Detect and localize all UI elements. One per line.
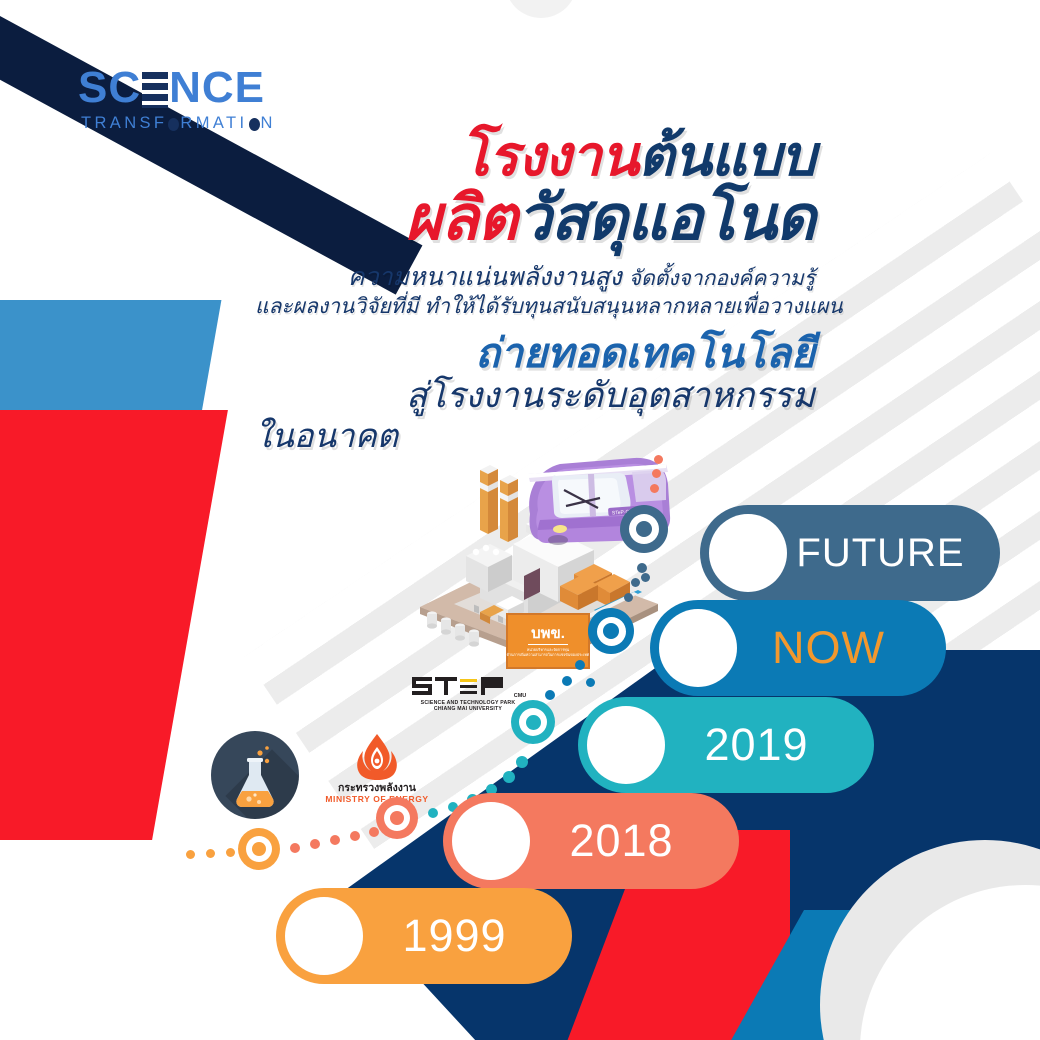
path-dot	[206, 849, 215, 858]
headline-line-5: ในอนาคต	[255, 419, 815, 454]
path-dot	[641, 573, 650, 582]
headline-line-2-navy: วัสดุแอโนด	[517, 184, 815, 253]
white-circle-cutout	[940, 980, 1040, 1040]
timeline-marker-2018	[376, 797, 418, 839]
step-cmu-logo: CMU SCIENCE AND TECHNOLOGY PARK CHIANG M…	[404, 673, 532, 712]
timeline-marker-2019	[511, 700, 555, 744]
logo-text-ncе: NCE	[169, 66, 265, 110]
path-dot	[186, 850, 195, 859]
timeline-pill-future[interactable]: FUTURE	[700, 505, 1000, 601]
science-transformation-logo: SC NCE TRANSF RMATI N	[78, 66, 276, 133]
headline-line-3: ถ่ายทอดเทคโนโลยี	[255, 332, 815, 375]
timeline-knob-now	[659, 609, 737, 687]
timeline-knob-1999	[285, 897, 363, 975]
chimney-icon-2	[500, 475, 518, 542]
logo-tagline-part1: TRANSF	[81, 114, 167, 133]
path-dot	[637, 563, 647, 573]
headline-line-1: โรงงานต้นแบบ	[255, 128, 815, 184]
subline-1b: จัดตั้งจากองค์ความรู้	[629, 267, 815, 290]
path-dot	[330, 835, 340, 845]
path-dot	[290, 843, 300, 853]
path-dot	[562, 676, 572, 686]
ministry-thai-name: กระทรวงพลังงาน	[318, 783, 436, 794]
path-dot	[654, 455, 663, 464]
dark-grey-circle-arc	[910, 940, 1040, 1040]
timeline-label-future: FUTURE	[787, 531, 1000, 576]
path-dot	[503, 771, 515, 783]
infographic-poster: SC NCE TRANSF RMATI N โรงงานต้นแบบ ผลิตว…	[0, 0, 1040, 1040]
timeline-pill-now[interactable]: NOW	[650, 600, 946, 696]
ministry-of-energy-logo: กระทรวงพลังงาน MINISTRY OF ENERGY	[318, 733, 436, 803]
path-dot	[624, 593, 633, 602]
headline-line-4: สู่โรงงานระดับอุตสาหกรรม	[255, 378, 815, 415]
timeline-pill-2018[interactable]: 2018	[443, 793, 739, 889]
headline-subline-2: และผลงานวิจัยที่มี ทำให้ได้รับทุนสนับสนุ…	[255, 294, 815, 320]
path-dot	[652, 469, 661, 478]
flask-icon-circle	[211, 731, 299, 819]
headline-line-1-red: โรงงาน	[460, 124, 639, 187]
path-dot	[350, 831, 360, 841]
logo-dot-icon-2	[249, 118, 260, 131]
logo-dot-icon	[168, 118, 179, 131]
timeline-knob-2019	[587, 706, 665, 784]
logo-tagline-part3: N	[261, 114, 276, 133]
timeline-knob-future	[709, 514, 787, 592]
flask-icon	[211, 731, 299, 819]
timeline-label-2019: 2019	[665, 719, 874, 771]
logo-tagline-part2: RMATI	[180, 114, 247, 133]
logo-text-sc: SC	[78, 66, 141, 110]
white-circle-arc	[860, 885, 1040, 1040]
step-wordmark-icon: CMU	[404, 673, 532, 699]
path-dot	[575, 660, 585, 670]
headline-line-2-red: ผลิต	[405, 184, 517, 253]
headline-line-1-navy: ต้นแบบ	[638, 124, 815, 187]
grey-circle-arc	[820, 840, 1040, 1040]
timeline-marker-now	[588, 608, 634, 654]
timeline-label-now: NOW	[737, 622, 946, 674]
path-dot	[369, 827, 379, 837]
step-cmu-text: CMU	[514, 693, 527, 699]
bpk-subtitle-1: หน่วยบริหารและจัดการทุน	[527, 647, 569, 652]
top-notch-shape	[505, 0, 577, 18]
red-parallelogram-shape	[0, 410, 228, 840]
subline-1a: ความหนาแน่นพลังงานสูง	[348, 263, 622, 291]
path-dot	[631, 578, 640, 587]
timeline-knob-2018	[452, 802, 530, 880]
path-dot	[310, 839, 320, 849]
headline-line-2: ผลิตวัสดุแอโนด	[255, 188, 815, 250]
bpk-abbr: บพข.	[531, 626, 565, 641]
timeline-pill-1999[interactable]: 1999	[276, 888, 572, 984]
logo-tagline: TRANSF RMATI N	[81, 114, 276, 133]
chimney-icon	[480, 465, 498, 534]
timeline-label-2018: 2018	[530, 815, 739, 867]
headline-subline-1: ความหนาแน่นพลังงานสูง จัดตั้งจากองค์ความ…	[255, 262, 815, 293]
bpk-subtitle-2: ด้านการเพิ่มความสามารถในการแข่งขันของประ…	[507, 652, 590, 657]
blue-corner-wedge	[720, 910, 920, 1040]
bpk-rule	[528, 644, 568, 645]
path-dot	[428, 808, 438, 818]
path-dot	[226, 848, 235, 857]
logo-wordmark: SC NCE	[78, 66, 276, 110]
timeline-pill-2019[interactable]: 2019	[578, 697, 874, 793]
headline-block: โรงงานต้นแบบ ผลิตวัสดุแอโนด ความหนาแน่นพ…	[255, 128, 815, 454]
timeline-marker-future	[620, 505, 668, 553]
timeline-label-1999: 1999	[363, 910, 572, 962]
blue-parallelogram-shape	[0, 300, 221, 770]
path-dot	[650, 484, 659, 493]
timeline-marker-1999	[238, 828, 280, 870]
path-dot	[545, 690, 555, 700]
path-dot	[516, 756, 528, 768]
logo-e-bars-icon	[142, 72, 168, 108]
path-dot	[586, 678, 595, 687]
flame-icon	[351, 733, 403, 781]
ministry-english-name: MINISTRY OF ENERGY	[318, 795, 436, 804]
step-glyphs-icon	[410, 673, 514, 699]
